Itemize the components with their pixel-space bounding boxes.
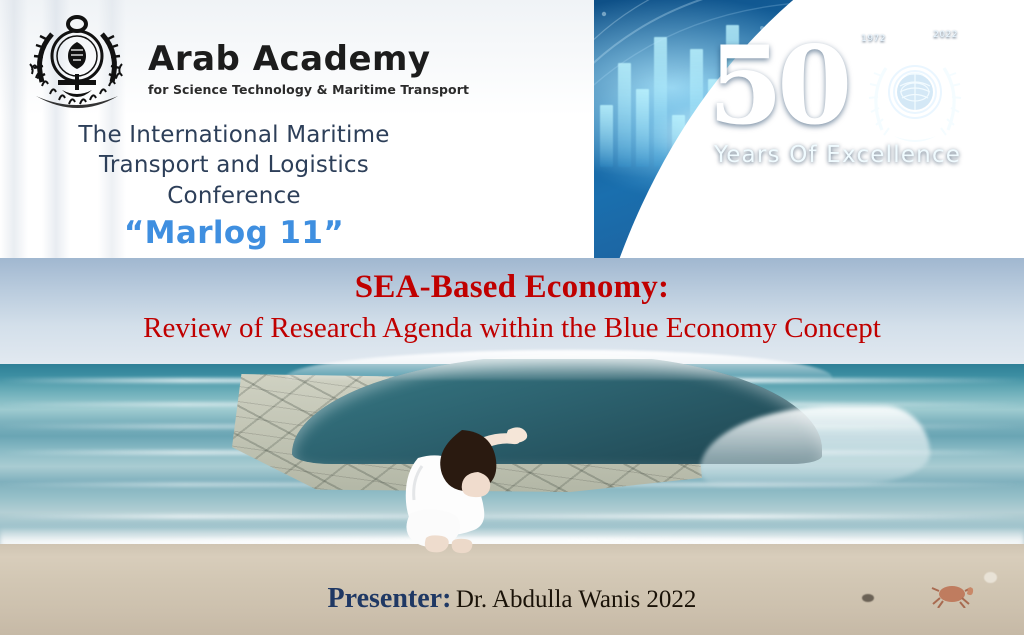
child-lifting-wave bbox=[370, 396, 560, 556]
page-subtitle: Review of Research Agenda within the Blu… bbox=[0, 311, 1024, 346]
conference-line-2: Transport and Logistics Conference bbox=[34, 150, 434, 211]
conference-edition: “Marlog 11” bbox=[34, 215, 434, 251]
anniversary-number: 50 bbox=[708, 32, 846, 140]
institution-subtitle: for Science Technology & Maritime Transp… bbox=[148, 82, 469, 97]
slide-title-block: SEA-Based Economy: Review of Research Ag… bbox=[0, 268, 1024, 346]
imo-style-seal bbox=[856, 40, 974, 158]
institution-name: Arab Academy bbox=[148, 42, 469, 76]
shell bbox=[984, 572, 997, 583]
anniversary-year-from: 1972 bbox=[861, 34, 886, 44]
presenter-name: Dr. Abdulla Wanis 2022 bbox=[456, 586, 697, 613]
aastmt-emblem bbox=[18, 12, 136, 118]
anniversary-caption: Years Of Excellence bbox=[714, 142, 994, 168]
presenter-block: Presenter: Dr. Abdulla Wanis 2022 bbox=[0, 583, 1024, 615]
brand-text-block: Arab Academy for Science Technology & Ma… bbox=[148, 42, 469, 97]
slide-header: Arab Academy for Science Technology & Ma… bbox=[0, 0, 1024, 258]
conference-title-block: The International Maritime Transport and… bbox=[34, 120, 434, 251]
anniversary-lockup: 50 bbox=[702, 28, 1002, 188]
presentation-slide: Arab Academy for Science Technology & Ma… bbox=[0, 0, 1024, 635]
anniversary-year-to: 2022 bbox=[933, 30, 958, 40]
presenter-label: Presenter: bbox=[328, 583, 452, 614]
conference-line-1: The International Maritime bbox=[34, 120, 434, 150]
page-title: SEA-Based Economy: bbox=[0, 268, 1024, 307]
